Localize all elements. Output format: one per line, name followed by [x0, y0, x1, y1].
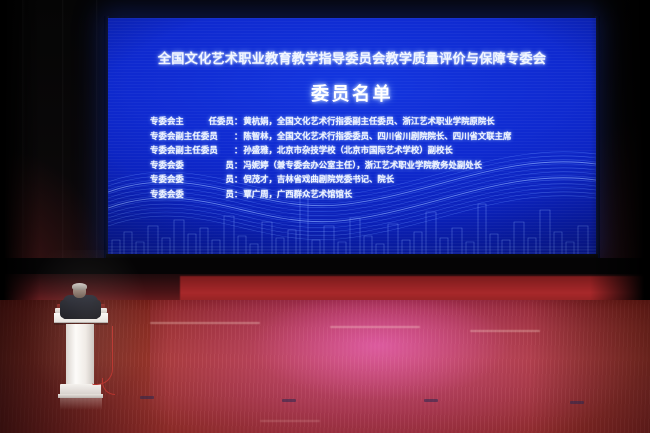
floor-highlight — [330, 326, 420, 328]
member-row: 专委会委员：冯妮婷（兼专委会办公室主任），浙江艺术职业学院教务处副处长 — [150, 160, 576, 170]
member-row: 专委会副主任委员：孙盛雅，北京市杂技学校（北京市国际艺术学校）副校长 — [150, 145, 576, 155]
floor-highlight — [260, 420, 320, 422]
floor-magenta-light — [230, 300, 530, 400]
member-role-suffix: 员 — [226, 189, 234, 199]
member-detail: 覃广周，广西群众艺术馆馆长 — [243, 189, 352, 199]
stage-mask-left — [0, 0, 40, 300]
member-detail: 冯妮婷（兼专委会办公室主任），浙江艺术职业学院教务处副处长 — [243, 160, 482, 170]
member-role-suffix: 员 — [226, 174, 234, 184]
member-role-suffix: 任委员 — [209, 116, 234, 126]
member-role: 专委会委员 — [150, 160, 234, 170]
floor-marker — [424, 399, 438, 402]
member-colon: ： — [234, 189, 242, 199]
member-colon: ： — [234, 131, 242, 141]
screen-title: 全国文化艺术职业教育教学指导委员会教学质量评价与保障专委会 — [108, 48, 596, 67]
floor-highlight — [470, 330, 540, 332]
member-detail: 倪茂才，吉林省戏曲剧院党委书记、院长 — [243, 174, 394, 184]
member-colon: ： — [234, 116, 242, 126]
floor-marker — [570, 401, 584, 404]
member-row: 专委会副主任委员：陈智林，全国文化艺术行指委委员、四川省川剧院院长、四川省文联主… — [150, 131, 576, 141]
member-role: 专委会副主任委员 — [150, 145, 234, 155]
floor-shadow-right — [530, 300, 650, 433]
led-presentation-screen: 全国文化艺术职业教育教学指导委员会教学质量评价与保障专委会 委员名单 专委会主任… — [108, 18, 596, 256]
member-role-suffix: 员 — [226, 160, 234, 170]
member-row: 专委会委员：倪茂才，吉林省戏曲剧院党委书记、院长 — [150, 174, 576, 184]
member-colon: ： — [234, 174, 242, 184]
stage-scene: 全国文化艺术职业教育教学指导委员会教学质量评价与保障专委会 委员名单 专委会主任… — [0, 0, 650, 433]
member-detail: 黄杭娟，全国文化艺术行指委副主任委员、浙江艺术职业学院原院长 — [243, 116, 494, 126]
member-detail: 孙盛雅，北京市杂技学校（北京市国际艺术学校）副校长 — [243, 145, 452, 155]
member-row: 专委会主任委员：黄杭娟，全国文化艺术行指委副主任委员、浙江艺术职业学院原院长 — [150, 116, 576, 126]
member-role: 专委会副主任委员 — [150, 131, 234, 141]
spotlight-haze — [20, 250, 170, 430]
member-role: 专委会委员 — [150, 174, 234, 184]
member-list: 专委会主任委员：黄杭娟，全国文化艺术行指委副主任委员、浙江艺术职业学院原院长专委… — [150, 116, 576, 204]
member-colon: ： — [234, 145, 242, 155]
floor-marker — [282, 399, 296, 402]
member-role: 专委会委员 — [150, 189, 234, 199]
member-role: 专委会主任委员 — [150, 116, 234, 126]
member-row: 专委会委员：覃广周，广西群众艺术馆馆长 — [150, 189, 576, 199]
member-detail: 陈智林，全国文化艺术行指委委员、四川省川剧院院长、四川省文联主席 — [243, 131, 511, 141]
member-colon: ： — [234, 160, 242, 170]
stage-mask-right — [590, 0, 650, 300]
screen-subtitle: 委员名单 — [108, 80, 596, 106]
